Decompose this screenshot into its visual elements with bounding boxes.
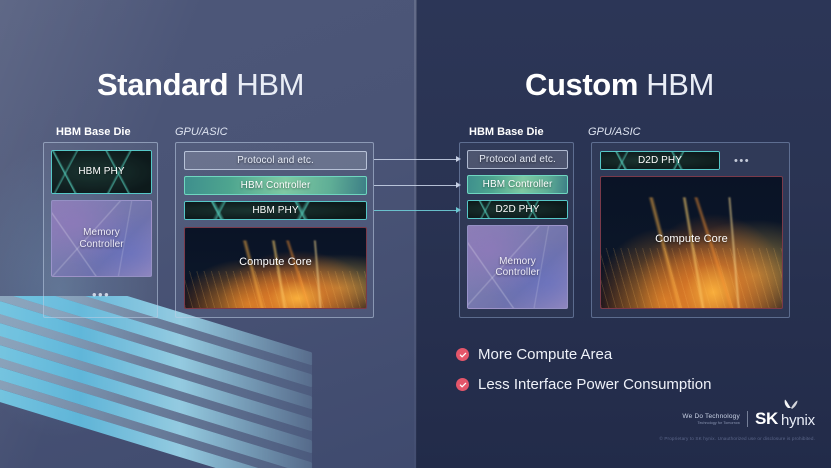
panel-left-base-die: HBM PHY Memory Controller ••• — [43, 142, 158, 318]
logo-divider — [747, 411, 748, 427]
benefit-label-1: More Compute Area — [478, 346, 612, 363]
brand-tagline-sub: Technology for Tomorrow — [682, 421, 740, 425]
page-title-custom: Custom HBM — [525, 67, 714, 103]
block-left-hbm-controller[interactable]: HBM Controller — [184, 176, 367, 195]
ellipsis-left-base-die: ••• — [92, 288, 110, 301]
brand-logo: We Do Technology Technology for Tomorrow… — [682, 409, 815, 429]
caption-left-gpu: GPU/ASIC — [175, 126, 228, 138]
benefit-item-1: More Compute Area — [456, 346, 612, 363]
logo-sk-text: SK — [755, 409, 778, 429]
block-left-memory-controller-label: Memory Controller — [79, 227, 123, 250]
panel-left-gpu: Protocol and etc. HBM Controller HBM PHY… — [175, 142, 374, 318]
block-left-compute-core[interactable]: Compute Core — [184, 227, 367, 309]
title-standard-light: HBM — [236, 67, 304, 102]
block-right-protocol[interactable]: Protocol and etc. — [467, 150, 568, 169]
block-left-memory-controller[interactable]: Memory Controller — [51, 200, 152, 277]
block-right-d2d-phy[interactable]: D2D PHY — [467, 200, 568, 219]
title-standard-bold: Standard — [97, 67, 228, 102]
page-title-standard: Standard HBM — [97, 67, 304, 103]
brand-tagline: We Do Technology Technology for Tomorrow — [682, 413, 740, 425]
footer-disclaimer: © Proprietary to SK hynix. Unauthorized … — [659, 436, 815, 441]
caption-left-base-die: HBM Base Die — [56, 126, 131, 138]
benefit-item-2: Less Interface Power Consumption — [456, 376, 711, 393]
title-custom-light: HBM — [646, 67, 714, 102]
block-left-hbm-phy-label: HBM PHY — [78, 166, 124, 178]
caption-right-base-die: HBM Base Die — [469, 126, 544, 138]
block-right-compute-core[interactable]: Compute Core — [600, 176, 783, 309]
block-right-memory-controller-label: Memory Controller — [495, 256, 539, 279]
connector-protocol — [374, 159, 457, 160]
center-divider — [414, 0, 417, 468]
block-left-hbm-controller-label: HBM Controller — [241, 180, 311, 192]
panel-right-gpu: D2D PHY ••• Compute Core — [591, 142, 790, 318]
block-right-hbm-controller-label: HBM Controller — [483, 179, 553, 191]
check-icon — [456, 378, 469, 391]
block-left-protocol[interactable]: Protocol and etc. — [184, 151, 367, 170]
block-right-memory-controller[interactable]: Memory Controller — [467, 225, 568, 309]
block-left-compute-core-label: Compute Core — [185, 256, 366, 269]
block-right-compute-core-label: Compute Core — [601, 233, 782, 246]
caption-right-gpu: GPU/ASIC — [588, 126, 641, 138]
block-right-gpu-d2d-phy[interactable]: D2D PHY — [600, 151, 720, 170]
benefit-label-2: Less Interface Power Consumption — [478, 376, 711, 393]
connector-hbm-controller — [374, 185, 457, 186]
block-right-gpu-d2d-phy-label: D2D PHY — [638, 155, 682, 167]
ellipsis-right-gpu: ••• — [734, 156, 750, 167]
block-left-hbm-phy[interactable]: HBM PHY — [51, 150, 152, 194]
butterfly-icon — [783, 399, 799, 418]
panel-right-base-die: Protocol and etc. HBM Controller D2D PHY… — [459, 142, 574, 318]
block-left-protocol-label: Protocol and etc. — [237, 155, 314, 167]
slide-root: Standard HBM HBM Base Die GPU/ASIC HBM P… — [0, 0, 831, 468]
block-right-protocol-label: Protocol and etc. — [479, 154, 556, 166]
sk-hynix-logo: SK hynix — [755, 409, 815, 429]
block-left-gpu-hbm-phy[interactable]: HBM PHY — [184, 201, 367, 220]
block-left-gpu-hbm-phy-label: HBM PHY — [252, 205, 298, 217]
block-right-hbm-controller[interactable]: HBM Controller — [467, 175, 568, 194]
brand-tagline-main: We Do Technology — [682, 413, 740, 420]
block-right-d2d-phy-label: D2D PHY — [495, 204, 539, 216]
connector-phy — [374, 210, 457, 211]
check-icon — [456, 348, 469, 361]
title-custom-bold: Custom — [525, 67, 638, 102]
